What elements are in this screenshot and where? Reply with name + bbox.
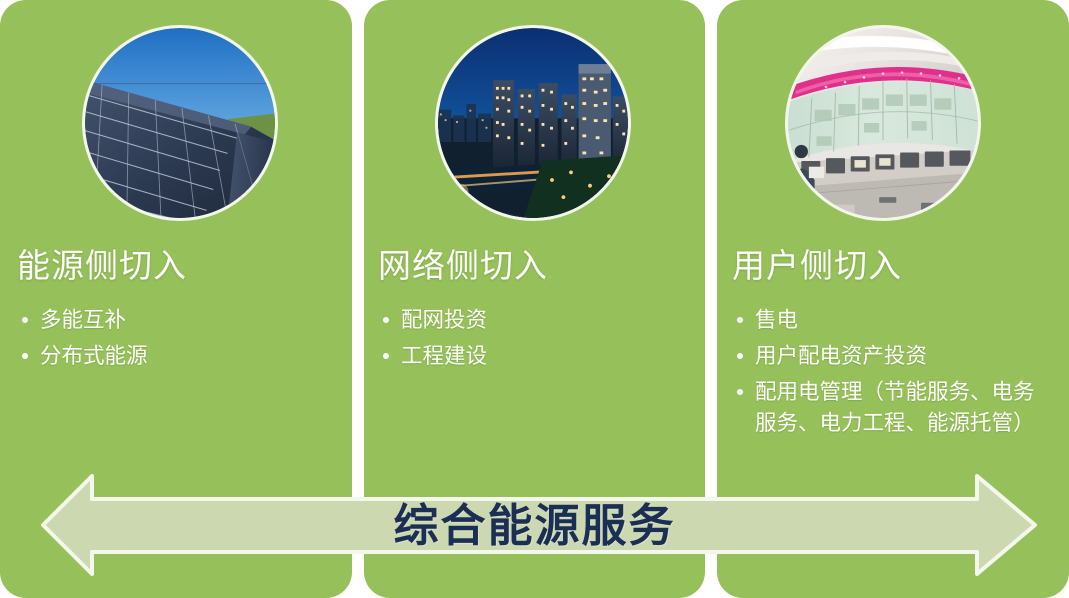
control-room-photo [785,25,981,221]
list-item: 工程建设 [379,341,684,372]
panel-bullet-list: 多能互补 分布式能源 [18,305,328,377]
panel-network-side: 网络侧切入 配网投资 工程建设 [364,0,705,598]
photo-clip-city [438,28,628,218]
panel-energy-side: 能源侧切入 多能互补 分布式能源 [0,0,352,598]
photo-clip-solar [85,28,275,218]
night-cityscape-photo [435,25,631,221]
list-item: 售电 [733,305,1053,336]
list-item: 用户配电资产投资 [733,341,1053,372]
panel-title: 能源侧切入 [17,251,187,284]
list-item: 配用电管理（节能服务、电务服务、电力工程、能源托管） [733,377,1053,439]
panel-bullet-list: 售电 用户配电资产投资 配用电管理（节能服务、电务服务、电力工程、能源托管） [733,305,1053,444]
list-item: 多能互补 [18,305,328,336]
list-item: 分布式能源 [18,341,328,372]
panel-title: 网络侧切入 [378,251,548,284]
photo-clip-controlroom [788,28,978,218]
panel-title: 用户侧切入 [732,251,902,284]
panel-bullet-list: 配网投资 工程建设 [379,305,684,377]
list-item: 配网投资 [379,305,684,336]
infographic-canvas: 能源侧切入 多能互补 分布式能源 [0,0,1069,598]
panel-customer-side: 用户侧切入 售电 用户配电资产投资 配用电管理（节能服务、电务服务、电力工程、能… [717,0,1069,598]
solar-panel-farm-photo [82,25,278,221]
